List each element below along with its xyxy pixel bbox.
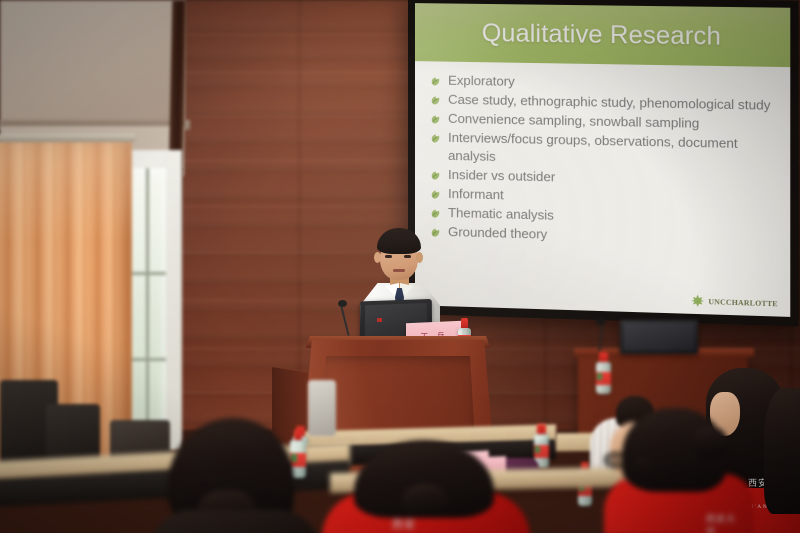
eyeglasses-icon bbox=[604, 452, 656, 468]
audience-member-center: 西安 bbox=[336, 440, 516, 533]
slide-bullet-text: Interviews/focus groups, observations, d… bbox=[448, 129, 776, 171]
chair bbox=[308, 380, 336, 436]
ceiling bbox=[0, 0, 185, 128]
water-bottle bbox=[596, 352, 611, 394]
audience-far-right-hair bbox=[764, 388, 800, 514]
audience-member-far-right bbox=[764, 388, 800, 533]
presenter-ear-right bbox=[416, 252, 423, 263]
unc-charlotte-wordmark: UNCCHARLOTTE bbox=[708, 297, 777, 308]
green-leaf-bullet-icon bbox=[429, 113, 442, 127]
audience-glasses-shirt-text: 西安大学 bbox=[706, 512, 744, 533]
unc-charlotte-logo: UNCCHARLOTTE bbox=[690, 293, 778, 310]
audience-center-shirt-text: 西安 bbox=[392, 516, 416, 532]
audience-glasses-bun bbox=[692, 426, 728, 460]
green-leaf-bullet-icon bbox=[429, 94, 442, 108]
slide-title: Qualitative Research bbox=[482, 18, 721, 51]
side-desk-laptop bbox=[620, 320, 698, 354]
conference-room-photo: Qualitative Research Exploratory bbox=[0, 0, 800, 533]
green-leaf-bullet-icon bbox=[429, 168, 442, 182]
slide-bullet-text: Exploratory bbox=[448, 72, 515, 90]
slide-body: Exploratory Case study, ethnographic stu… bbox=[415, 61, 790, 317]
slide-bullet-item: Interviews/focus groups, observations, d… bbox=[429, 129, 776, 171]
presenter-hair bbox=[377, 228, 421, 254]
slide-bullet-text: Informant bbox=[448, 185, 504, 204]
podium-microphone-icon bbox=[338, 300, 347, 307]
presenter-eye-left bbox=[385, 255, 392, 258]
green-leaf-bullet-icon bbox=[429, 74, 442, 88]
curtain-rod bbox=[0, 134, 136, 142]
slide-title-bar: Qualitative Research bbox=[415, 3, 790, 67]
projection-screen: Qualitative Research Exploratory bbox=[408, 0, 799, 326]
window-mullion-vertical bbox=[146, 168, 149, 430]
presenter-mouth bbox=[393, 269, 405, 272]
green-leaf-bullet-icon bbox=[429, 132, 442, 146]
audience-center-bun bbox=[402, 484, 448, 518]
green-leaf-bullet-icon bbox=[429, 207, 442, 221]
unc-crown-mark-icon bbox=[690, 293, 707, 308]
slide-bullet-text: Thematic analysis bbox=[448, 204, 554, 224]
slide-bullet-text: Grounded theory bbox=[448, 223, 547, 243]
green-leaf-bullet-icon bbox=[429, 187, 442, 201]
slide-surface: Qualitative Research Exploratory bbox=[415, 3, 790, 317]
audience-front-left-shoulder bbox=[150, 510, 320, 533]
audience-member-front-left bbox=[168, 418, 300, 533]
presenter-eye-right bbox=[404, 255, 411, 258]
side-desk-microphone-icon bbox=[596, 318, 605, 325]
presenter-ear-left bbox=[374, 252, 381, 263]
audience-member-glasses: 西安大学 bbox=[594, 408, 744, 533]
laptop-logo-dot bbox=[377, 318, 382, 322]
slide-bullet-text: Convenience sampling, snowball sampling bbox=[448, 110, 699, 132]
slide-bullet-text: Insider vs outsider bbox=[448, 166, 555, 186]
